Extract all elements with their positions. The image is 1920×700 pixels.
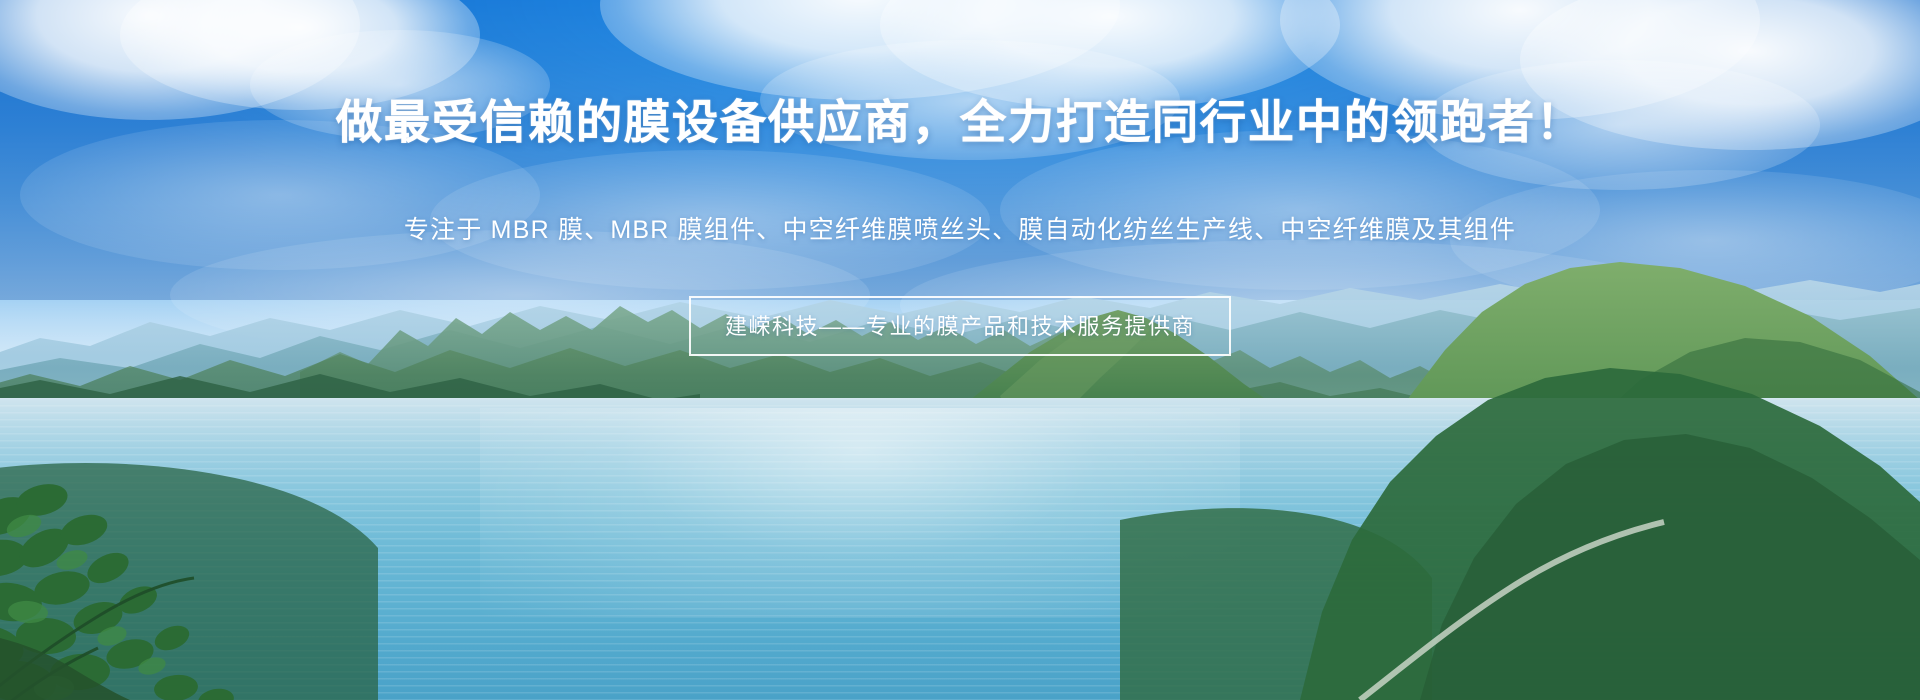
banner-tagline-box: 建嵘科技——专业的膜产品和技术服务提供商 (689, 296, 1231, 356)
hero-banner: 做最受信赖的膜设备供应商，全力打造同行业中的领跑者！ 专注于 MBR 膜、MBR… (0, 0, 1920, 700)
banner-headline: 做最受信赖的膜设备供应商，全力打造同行业中的领跑者！ (0, 95, 1920, 149)
banner-subtitle: 专注于 MBR 膜、MBR 膜组件、中空纤维膜喷丝头、膜自动化纺丝生产线、中空纤… (0, 210, 1920, 246)
left-shore-mass (0, 463, 378, 700)
